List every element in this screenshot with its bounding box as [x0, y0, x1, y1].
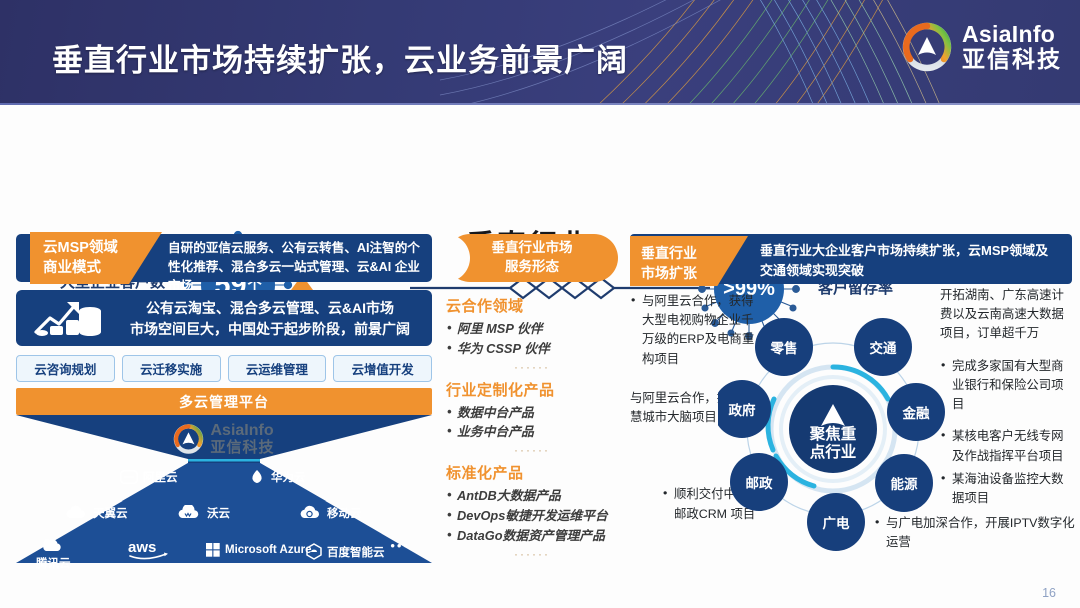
service-form-badge: 垂直行业市场 服务形态	[446, 234, 618, 282]
wo-cloud-icon	[176, 505, 202, 521]
logo-en-text: AsiaInfo	[962, 23, 1062, 46]
asiainfo-logo-icon	[173, 424, 203, 454]
right-bullet-item: 完成多家国有大型商业银行和保险公司项目	[940, 357, 1072, 415]
custom-products-heading: 行业定制化产品	[446, 379, 618, 400]
business-model-row: 云MSP领域 商业模式 自研的亚信云服务、公有云转售、AI注智的个性化推荐、混合…	[16, 234, 432, 282]
hub-center-line2: 点行业	[810, 442, 857, 461]
cloud-partner-heading: 云合作领域	[446, 295, 618, 316]
vendor-wo-cloud: 沃云	[176, 505, 230, 521]
hub-node-retail: 零售	[755, 318, 813, 376]
right-bullet-item: 某海油设备监控大数据项目	[940, 470, 1072, 508]
hub-node-energy: 能源	[875, 454, 933, 512]
alibaba-cloud-icon	[120, 470, 138, 484]
cloud-vendor-list: 阿里云 华为云 天翼云	[16, 465, 432, 563]
vendor-label: 百度智能云	[327, 544, 385, 560]
baidu-cloud-icon	[306, 543, 322, 560]
vendor-label: Microsoft Azure	[225, 544, 311, 556]
custom-products-ellipsis: ······	[446, 443, 618, 457]
market-space-band: 公有云淘宝、混合多云管理、云&AI市场 市场空间巨大，中国处于起步阶段，前景广阔	[16, 290, 432, 346]
slide-header: 垂直行业市场持续扩张，云业务前景广阔 AsiaInfo	[0, 0, 1080, 105]
market-space-line1: 公有云淘宝、混合多云管理、云&AI市场	[120, 298, 420, 319]
standard-products-heading: 标准化产品	[446, 462, 618, 483]
vendor-label: 沃云	[207, 505, 230, 521]
cloud-partner-section: 云合作领域 阿里 MSP 伙伴 华为 CSSP 伙伴 ······	[446, 295, 618, 374]
multicloud-platform-bar: 多云管理平台	[16, 388, 432, 415]
hub-node-finance: 金融	[887, 383, 945, 441]
business-model-text: 自研的亚信云服务、公有云转售、AI注智的个性化推荐、混合多云一站式管理、云&AI…	[168, 239, 424, 296]
cloud-partner-item: 华为 CSSP 伙伴	[446, 339, 618, 359]
chip-cloud-migration[interactable]: 云迁移实施	[122, 355, 221, 382]
standard-products-item: AntDB大数据产品	[446, 486, 618, 506]
svg-text:aws: aws	[128, 539, 156, 556]
cloud-vendor-funnel: AsiaInfo 亚信科技 阿里云 华为云	[16, 415, 432, 563]
vendors-more-dots: •••	[390, 538, 410, 553]
vendor-tencent-cloud: 腾讯云	[36, 537, 71, 571]
hub-center-line1: 聚焦重	[809, 424, 857, 443]
vendor-label: 移动云	[327, 505, 362, 521]
funnel-asiainfo-logo: AsiaInfo 亚信科技	[173, 423, 274, 456]
right-bullets-right: 开拓湖南、广东高速计费以及云南高速大数据项目，订单超千万 完成多家国有大型商业银…	[940, 286, 1072, 566]
slide-root: 垂直行业市场持续扩张，云业务前景广阔 AsiaInfo	[0, 0, 1080, 608]
azure-icon	[206, 543, 220, 557]
custom-products-item: 业务中台产品	[446, 422, 618, 442]
vendor-label: 天翼云	[93, 505, 128, 521]
vendor-azure: Microsoft Azure	[206, 543, 311, 557]
vendor-label: 华为云	[271, 469, 306, 485]
growth-chart-icon	[32, 298, 108, 338]
service-form-badge-line1: 垂直行业市场	[492, 239, 573, 258]
svg-text:广电: 广电	[823, 515, 851, 531]
market-space-line2: 市场空间巨大，中国处于起步阶段，前景广阔	[120, 319, 420, 340]
hub-node-government: 政府	[718, 380, 771, 438]
service-chips: 云咨询规划 云迁移实施 云运维管理 云增值开发	[16, 355, 432, 382]
brand-logo: AsiaInfo 亚信科技	[902, 22, 1062, 72]
asiainfo-logo-icon	[902, 22, 952, 72]
vendor-label: 腾讯云	[36, 555, 71, 571]
standard-products-ellipsis: ······	[446, 547, 618, 561]
focus-industries-hub: 聚焦重 点行业 零售 交通 金融 能源 广电 邮政 政府	[718, 300, 948, 558]
vendor-label: 阿里云	[143, 469, 178, 485]
metrics-row: 大型企业客户数	[0, 105, 1080, 227]
page-title: 垂直行业市场持续扩张，云业务前景广阔	[52, 35, 628, 80]
vendor-ctyun: 天翼云	[64, 505, 128, 521]
market-space-text: 公有云淘宝、混合多云管理、云&AI市场 市场空间巨大，中国处于起步阶段，前景广阔	[120, 298, 420, 341]
svg-text:政府: 政府	[729, 402, 757, 418]
logo-cn-text: 亚信科技	[962, 48, 1062, 71]
market-expansion-text: 垂直行业大企业客户市场持续扩张，云MSP领域及交通领域实现突破	[760, 241, 1060, 280]
custom-products-item: 数据中台产品	[446, 403, 618, 423]
svg-text:零售: 零售	[770, 340, 798, 356]
cloud-partner-item: 阿里 MSP 伙伴	[446, 319, 618, 339]
hub-node-postal: 邮政	[730, 453, 788, 511]
left-panel: 云MSP领域 商业模式 自研的亚信云服务、公有云转售、AI注智的个性化推荐、混合…	[16, 234, 432, 563]
svg-text:邮政: 邮政	[746, 475, 774, 491]
vendor-huawei-cloud: 华为云	[248, 469, 306, 485]
ctyun-icon	[64, 505, 88, 521]
service-form-badge-line2: 服务形态	[505, 258, 559, 277]
right-panel: 垂直行业 市场扩张 垂直行业大企业客户市场持续扩张，云MSP领域及交通领域实现突…	[630, 234, 1072, 284]
hub-node-broadcasting: 广电	[807, 493, 865, 551]
hub-node-transport: 交通	[854, 318, 912, 376]
custom-products-section: 行业定制化产品 数据中台产品 业务中台产品 ······	[446, 379, 618, 458]
page-number: 16	[1042, 586, 1056, 600]
tencent-cloud-icon	[38, 537, 68, 554]
business-model-badge-line1: 云MSP领域	[43, 239, 162, 259]
svg-text:交通: 交通	[870, 340, 898, 356]
right-bullet-item: 某核电客户无线专网及作战指挥平台项目	[940, 427, 1072, 465]
chip-cloud-ops[interactable]: 云运维管理	[228, 355, 327, 382]
svg-text:金融: 金融	[902, 405, 931, 421]
vendor-aws: aws	[126, 539, 174, 561]
vendor-mobile-cloud: 移动云	[298, 505, 362, 521]
aws-icon: aws	[126, 539, 174, 561]
funnel-logo-en: AsiaInfo	[210, 423, 274, 440]
standard-products-section: 标准化产品 AntDB大数据产品 DevOps敏捷开发运维平台 DataGo数据…	[446, 462, 618, 560]
standard-products-item: DataGo数据资产管理产品	[446, 526, 618, 546]
svg-text:能源: 能源	[891, 476, 919, 492]
mobile-cloud-icon	[298, 505, 322, 521]
middle-panel: 垂直行业市场 服务形态 云合作领域 阿里 MSP 伙伴 华为 CSSP 伙伴 ·…	[446, 234, 618, 566]
chip-cloud-value-dev[interactable]: 云增值开发	[333, 355, 432, 382]
chip-cloud-consulting[interactable]: 云咨询规划	[16, 355, 115, 382]
market-expansion-row: 垂直行业 市场扩张 垂直行业大企业客户市场持续扩张，云MSP领域及交通领域实现突…	[630, 234, 1072, 284]
huawei-cloud-icon	[248, 469, 266, 485]
cloud-partner-ellipsis: ······	[446, 360, 618, 374]
standard-products-item: DevOps敏捷开发运维平台	[446, 506, 618, 526]
vendor-alibaba-cloud: 阿里云	[120, 469, 178, 485]
market-expansion-badge-line1: 垂直行业	[641, 244, 748, 264]
funnel-logo-cn: 亚信科技	[210, 440, 274, 456]
vendor-baidu-cloud: 百度智能云	[306, 543, 385, 560]
right-bullet-item: 开拓湖南、广东高速计费以及云南高速大数据项目，订单超千万	[940, 286, 1072, 344]
